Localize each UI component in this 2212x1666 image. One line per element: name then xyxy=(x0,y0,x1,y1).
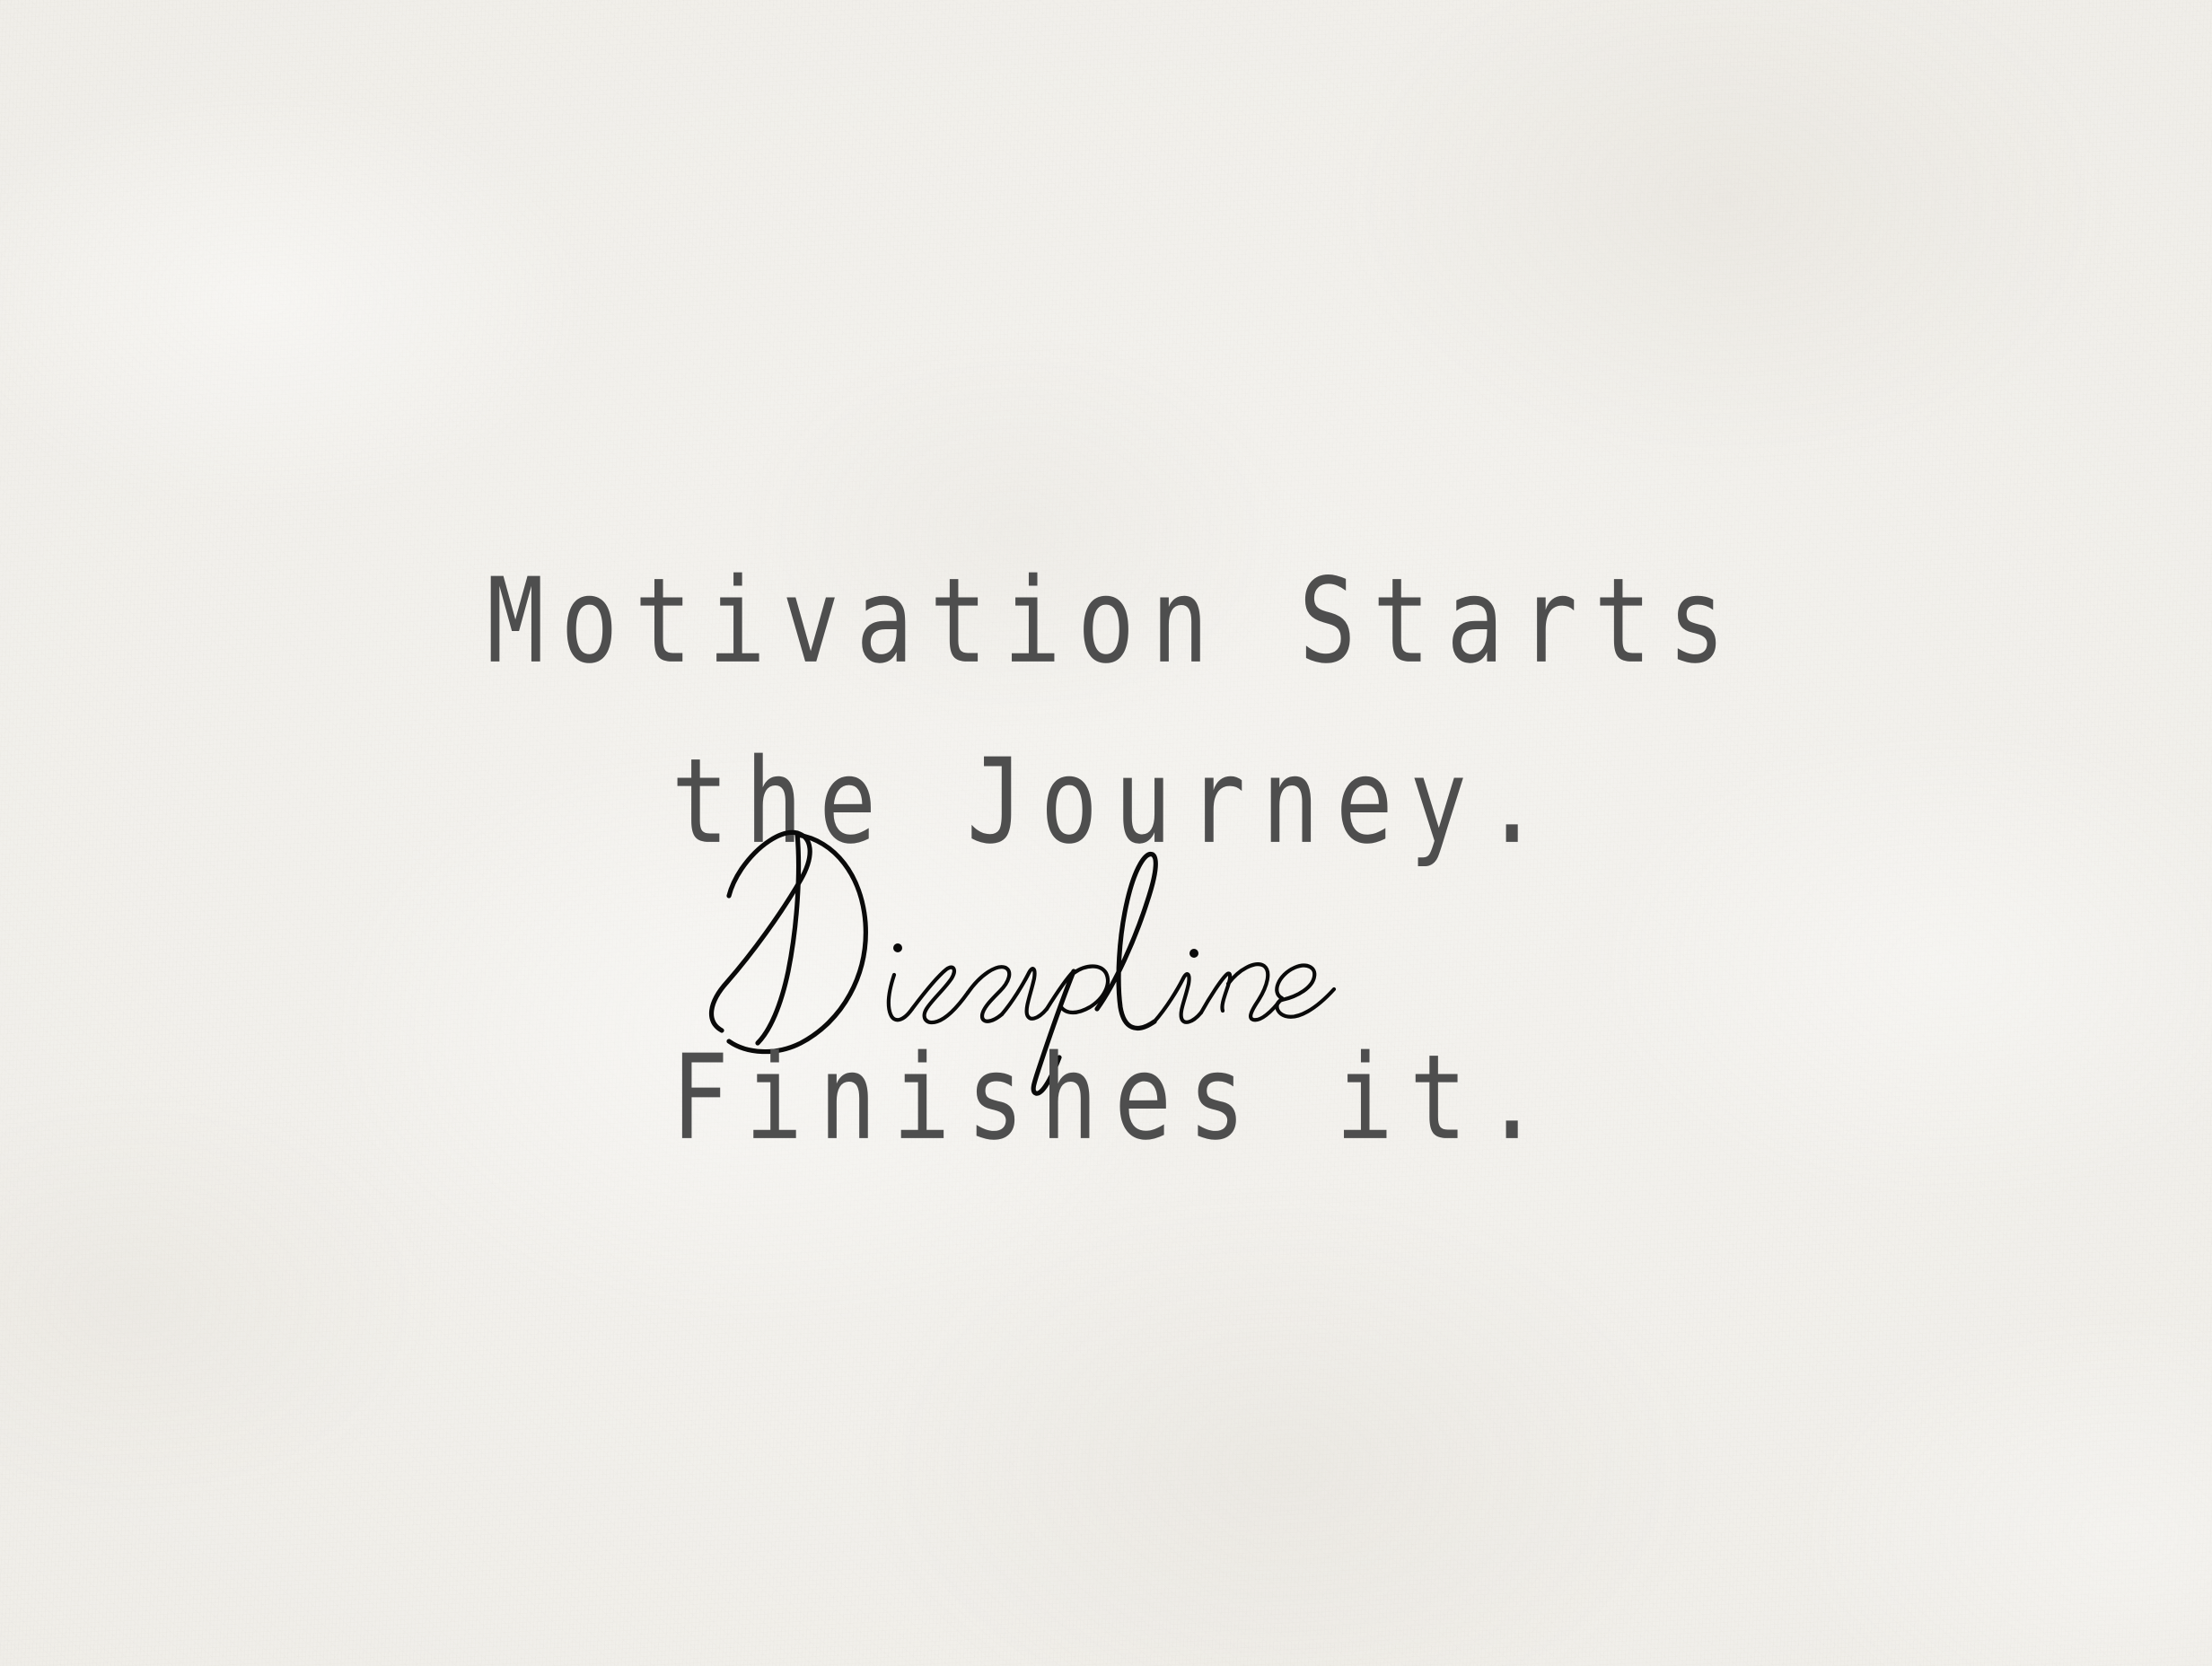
quote-poster: Motivation Starts the Journey. xyxy=(0,0,2212,1666)
quote-line-1: Motivation Starts xyxy=(188,564,2023,681)
quote-line-3: Finishes it. xyxy=(188,1040,2023,1158)
quote-text-block: Motivation Starts the Journey. xyxy=(0,0,2212,1666)
quote-line-2: the Journey. xyxy=(188,744,2023,862)
